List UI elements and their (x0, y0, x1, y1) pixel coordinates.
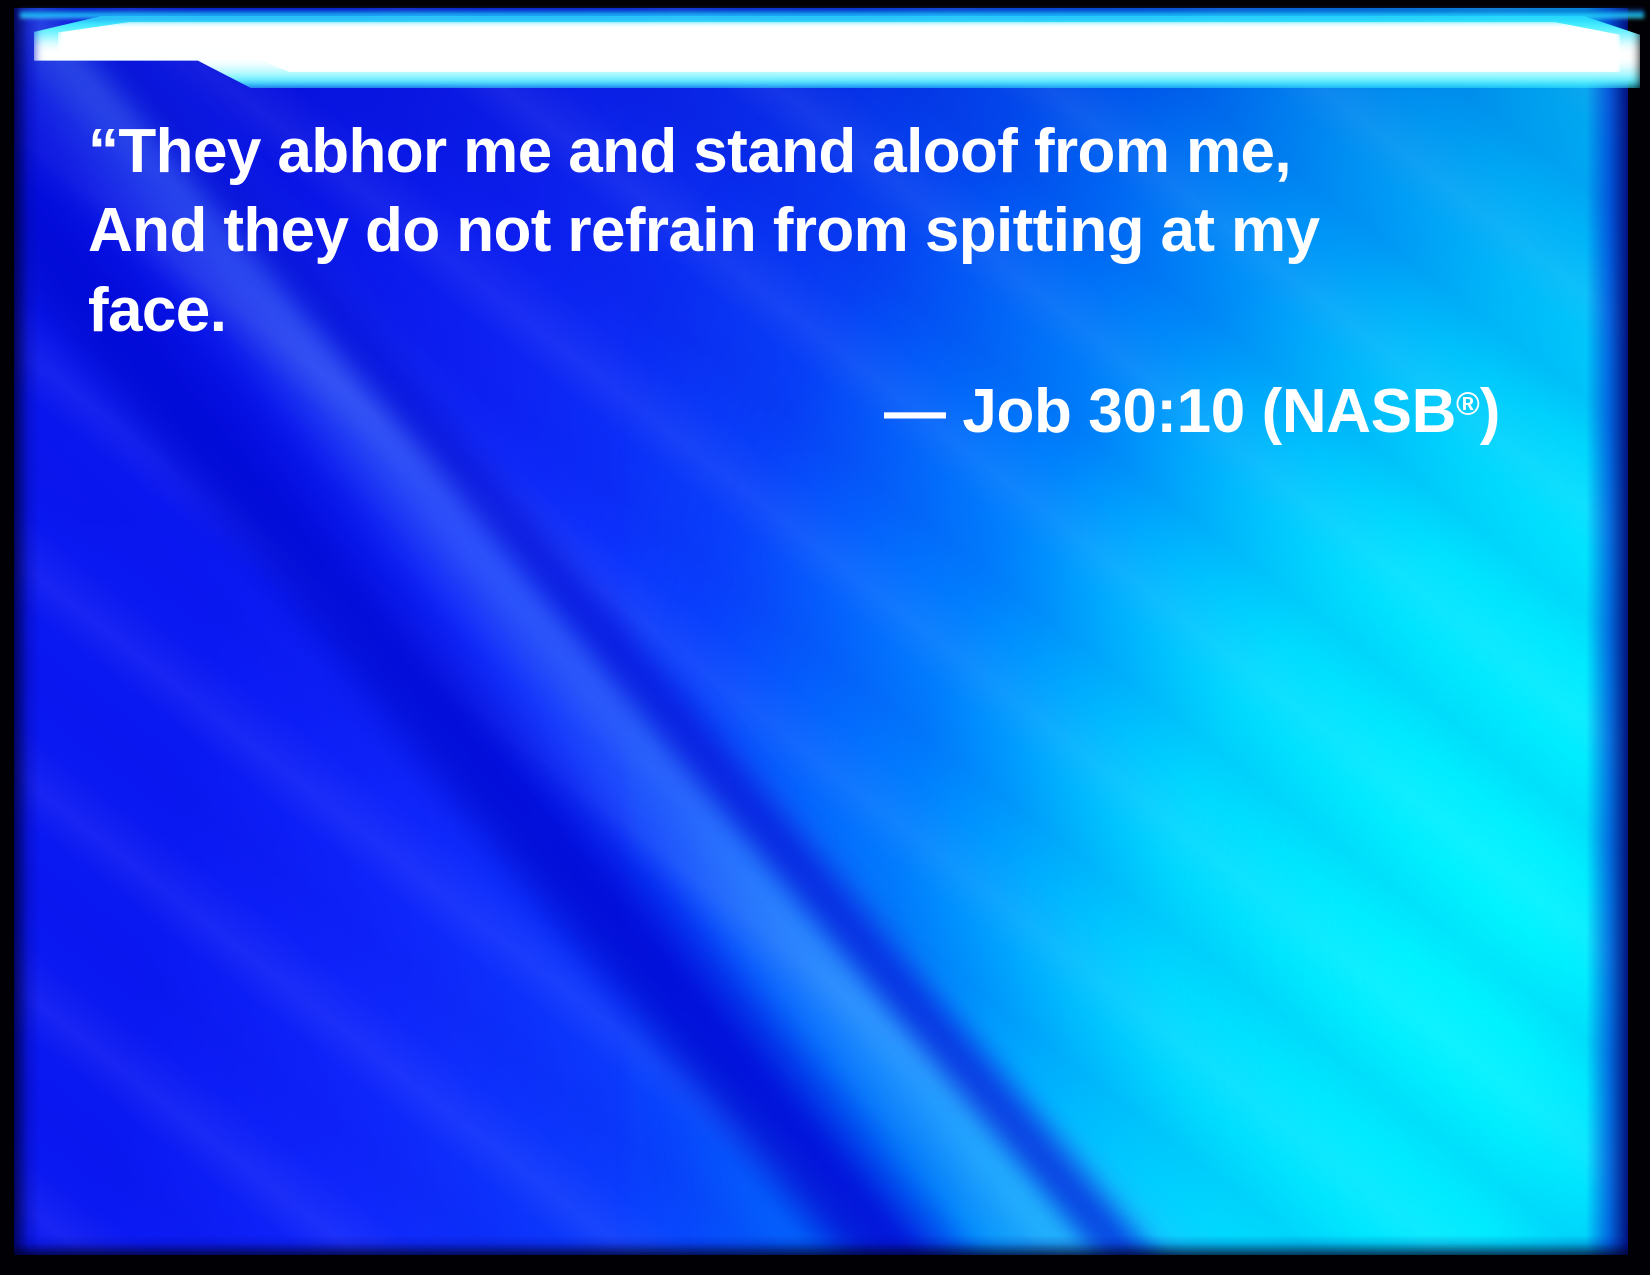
verse-line-2: And they do not refrain from spitting at… (88, 191, 1488, 270)
background-left-rim (14, 8, 40, 1255)
attribution-prefix: — Job 30:10 (NASB (884, 377, 1456, 446)
background-bottom-rim (14, 1235, 1628, 1255)
attribution-suffix: ) (1480, 377, 1500, 446)
background-right-rim (1586, 8, 1628, 1255)
verse-line-3: face. (88, 271, 1488, 350)
verse-attribution: — Job 30:10 (NASB®) (88, 372, 1500, 451)
verse-line-1: “They abhor me and stand aloof from me, (88, 112, 1488, 191)
registered-trademark-icon: ® (1456, 385, 1480, 421)
verse-text-block: “They abhor me and stand aloof from me, … (88, 112, 1488, 350)
verse-slide: “They abhor me and stand aloof from me, … (0, 0, 1650, 1275)
